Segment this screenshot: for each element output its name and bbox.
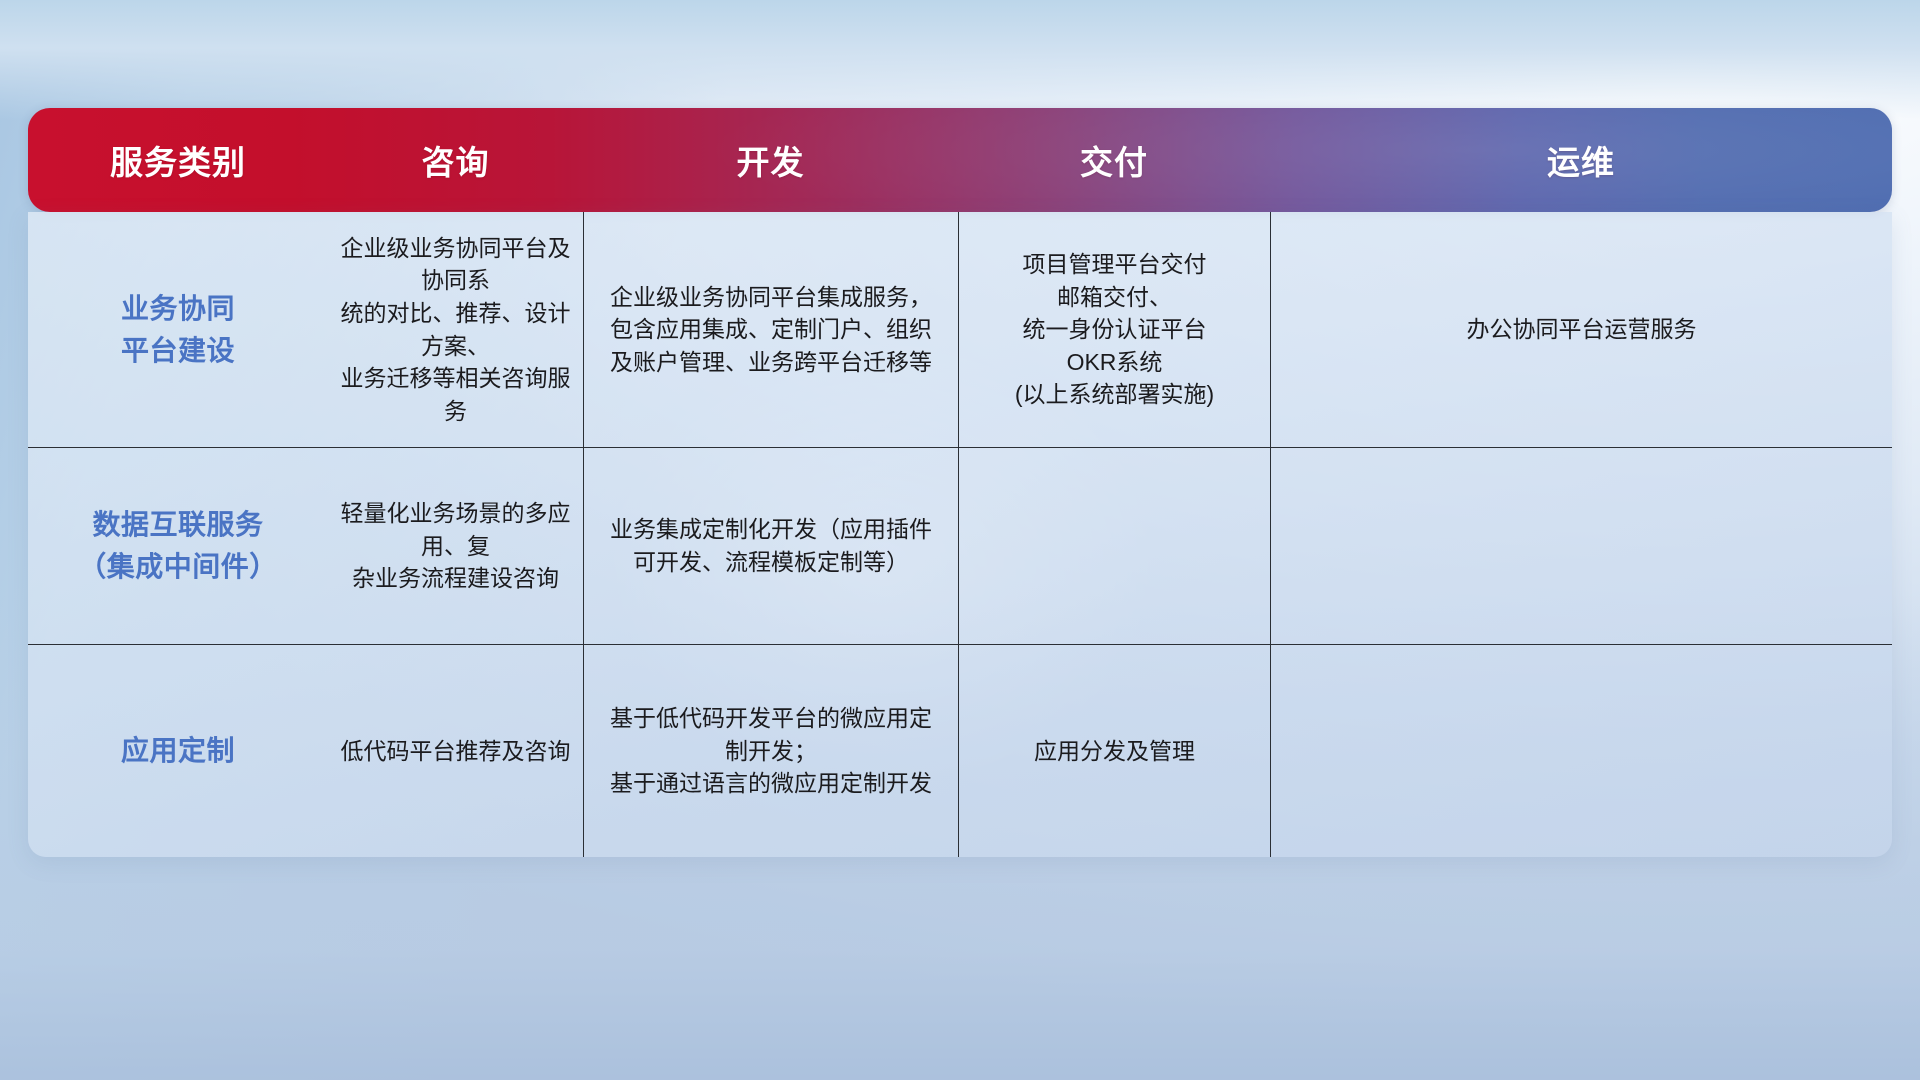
row-label-text: 应用定制 (121, 730, 235, 772)
cell-delivery: 项目管理平台交付 邮箱交付、 统一身份认证平台 OKR系统 (以上系统部署实施) (958, 212, 1270, 447)
cell-text: 项目管理平台交付 邮箱交付、 统一身份认证平台 OKR系统 (以上系统部署实施) (1015, 248, 1214, 411)
row-label-text: 业务协同 平台建设 (121, 288, 235, 372)
header-cell-consulting: 咨询 (328, 136, 583, 184)
header-cell-delivery: 交付 (958, 136, 1270, 184)
cell-consulting: 轻量化业务场景的多应用、复 杂业务流程建设咨询 (328, 448, 583, 644)
cell-operations (1270, 645, 1892, 857)
cell-delivery: 应用分发及管理 (958, 645, 1270, 857)
table-body: 业务协同 平台建设 企业级业务协同平台及协同系 统的对比、推荐、设计方案、 业务… (28, 212, 1892, 857)
cell-text: 低代码平台推荐及咨询 (341, 735, 571, 768)
header-cell-operations: 运维 (1270, 136, 1892, 184)
header-cell-category: 服务类别 (28, 136, 328, 184)
cell-text: 应用分发及管理 (1034, 735, 1195, 768)
cell-delivery (958, 448, 1270, 644)
cell-text: 轻量化业务场景的多应用、复 杂业务流程建设咨询 (340, 497, 571, 595)
cell-text: 企业级业务协同平台及协同系 统的对比、推荐、设计方案、 业务迁移等相关咨询服务 (340, 232, 571, 428)
cell-development: 基于低代码开发平台的微应用定 制开发； 基于通过语言的微应用定制开发 (583, 645, 958, 857)
cell-operations: 办公协同平台运营服务 (1270, 212, 1892, 447)
cell-text: 企业级业务协同平台集成服务， 包含应用集成、定制门户、组织 及账户管理、业务跨平… (610, 281, 932, 379)
cell-text: 业务集成定制化开发（应用插件 可开发、流程模板定制等） (610, 513, 932, 578)
cell-operations (1270, 448, 1892, 644)
cell-development: 企业级业务协同平台集成服务， 包含应用集成、定制门户、组织 及账户管理、业务跨平… (583, 212, 958, 447)
row-label-cell: 业务协同 平台建设 (28, 212, 328, 447)
cell-text: 基于低代码开发平台的微应用定 制开发； 基于通过语言的微应用定制开发 (610, 702, 932, 800)
row-label-cell: 应用定制 (28, 645, 328, 857)
row-label-text: 数据互联服务 （集成中间件） (78, 504, 278, 588)
cell-text: 办公协同平台运营服务 (1467, 313, 1697, 346)
cell-consulting: 企业级业务协同平台及协同系 统的对比、推荐、设计方案、 业务迁移等相关咨询服务 (328, 212, 583, 447)
cell-development: 业务集成定制化开发（应用插件 可开发、流程模板定制等） (583, 448, 958, 644)
table-row: 业务协同 平台建设 企业级业务协同平台及协同系 统的对比、推荐、设计方案、 业务… (28, 212, 1892, 448)
table-row: 应用定制 低代码平台推荐及咨询 基于低代码开发平台的微应用定 制开发； 基于通过… (28, 645, 1892, 857)
cell-consulting: 低代码平台推荐及咨询 (328, 645, 583, 857)
service-matrix-table: 服务类别 咨询 开发 交付 运维 业务协同 平台建设 企业级业务协同平台及协同系… (28, 108, 1892, 857)
header-cell-development: 开发 (583, 136, 958, 184)
table-row: 数据互联服务 （集成中间件） 轻量化业务场景的多应用、复 杂业务流程建设咨询 业… (28, 448, 1892, 645)
row-label-cell: 数据互联服务 （集成中间件） (28, 448, 328, 644)
table-header-row: 服务类别 咨询 开发 交付 运维 (28, 108, 1892, 212)
